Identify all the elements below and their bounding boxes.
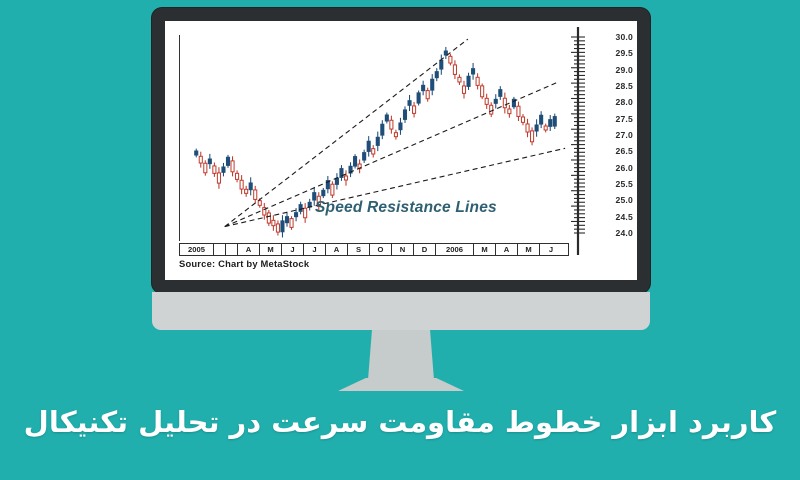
time-axis-cell: 2006 [436, 244, 474, 255]
time-axis-cell: M [260, 244, 282, 255]
time-axis-cell: O [370, 244, 392, 255]
chart-container: Speed Resistance Lines 30.029.529.028.52… [165, 21, 637, 280]
time-axis-cell: A [326, 244, 348, 255]
chart-title: Speed Resistance Lines [315, 199, 497, 217]
time-axis-cell [226, 244, 238, 255]
time-axis-cell: 2005 [180, 244, 214, 255]
time-axis-cell: S [348, 244, 370, 255]
price-tick-label: 24.5 [615, 212, 633, 222]
time-axis-cell: A [496, 244, 518, 255]
monitor-stand-neck [368, 330, 434, 380]
time-axis-cell: D [414, 244, 436, 255]
price-tick-labels: 30.029.529.028.528.027.527.026.526.025.5… [589, 27, 633, 255]
price-tick-label: 28.0 [615, 97, 633, 107]
time-axis: 2005AMJJASOND2006MAMJ [179, 243, 569, 256]
price-tick-label: 25.0 [615, 195, 633, 205]
price-tick-label: 26.5 [615, 146, 633, 156]
price-tick-label: 24.0 [615, 228, 633, 238]
time-axis-cell: J [304, 244, 326, 255]
price-tick-label: 25.5 [615, 179, 633, 189]
price-tick-label: 27.5 [615, 114, 633, 124]
time-axis-cell: J [282, 244, 304, 255]
monitor-screen: Speed Resistance Lines 30.029.529.028.52… [165, 21, 637, 280]
time-axis-cell: A [238, 244, 260, 255]
time-axis-cell: J [540, 244, 562, 255]
chart-source: Source: Chart by MetaStock [179, 258, 309, 269]
price-tick-label: 30.0 [615, 32, 633, 42]
time-axis-cell: M [474, 244, 496, 255]
caption-text: کاربرد ابزار خطوط مقاومت سرعت در تحلیل ت… [0, 404, 800, 440]
price-tick-label: 29.0 [615, 65, 633, 75]
time-axis-cell: N [392, 244, 414, 255]
poster-canvas: Speed Resistance Lines 30.029.529.028.52… [0, 0, 800, 480]
price-tick-label: 26.0 [615, 163, 633, 173]
monitor-bezel: Speed Resistance Lines 30.029.529.028.52… [152, 8, 650, 293]
time-axis-cell: M [518, 244, 540, 255]
price-tick-label: 28.5 [615, 81, 633, 91]
price-scale: 30.029.529.028.528.027.527.026.526.025.5… [569, 27, 633, 255]
time-axis-cell [214, 244, 226, 255]
price-scale-rail [569, 27, 587, 255]
price-tick-label: 29.5 [615, 48, 633, 58]
monitor-stand-foot [338, 378, 464, 391]
monitor-chin [152, 292, 650, 330]
price-tick-label: 27.0 [615, 130, 633, 140]
